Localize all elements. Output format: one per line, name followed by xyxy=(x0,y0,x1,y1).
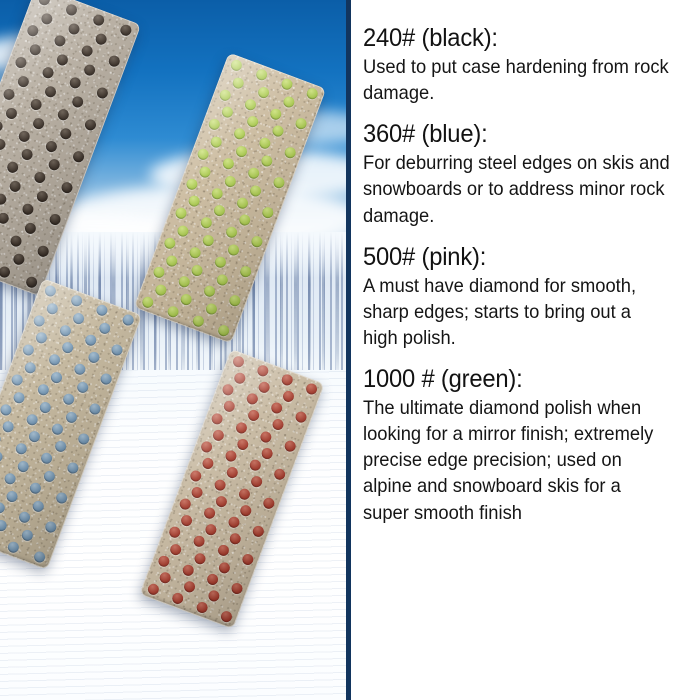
grit-description: Used to put case hardening from rock dam… xyxy=(363,54,670,106)
grit-block-240: 240# (black): Used to put case hardening… xyxy=(363,24,690,106)
grit-block-500: 500# (pink): A must have diamond for smo… xyxy=(363,243,690,351)
grit-heading: 360# (blue): xyxy=(363,120,674,148)
grit-block-360: 360# (blue): For deburring steel edges o… xyxy=(363,120,690,228)
stones-photo-panel xyxy=(0,0,346,700)
grit-block-1000: 1000 # (green): The ultimate diamond pol… xyxy=(363,365,690,526)
grit-description-panel: 240# (black): Used to put case hardening… xyxy=(351,0,700,700)
grit-description: For deburring steel edges on skis and sn… xyxy=(363,150,670,228)
product-info-graphic: 240# (black): Used to put case hardening… xyxy=(0,0,700,700)
grit-heading: 240# (black): xyxy=(363,24,674,52)
grit-description: A must have diamond for smooth, sharp ed… xyxy=(363,273,670,351)
grit-heading: 1000 # (green): xyxy=(363,365,674,393)
grit-description: The ultimate diamond polish when looking… xyxy=(363,395,670,526)
grit-heading: 500# (pink): xyxy=(363,243,674,271)
